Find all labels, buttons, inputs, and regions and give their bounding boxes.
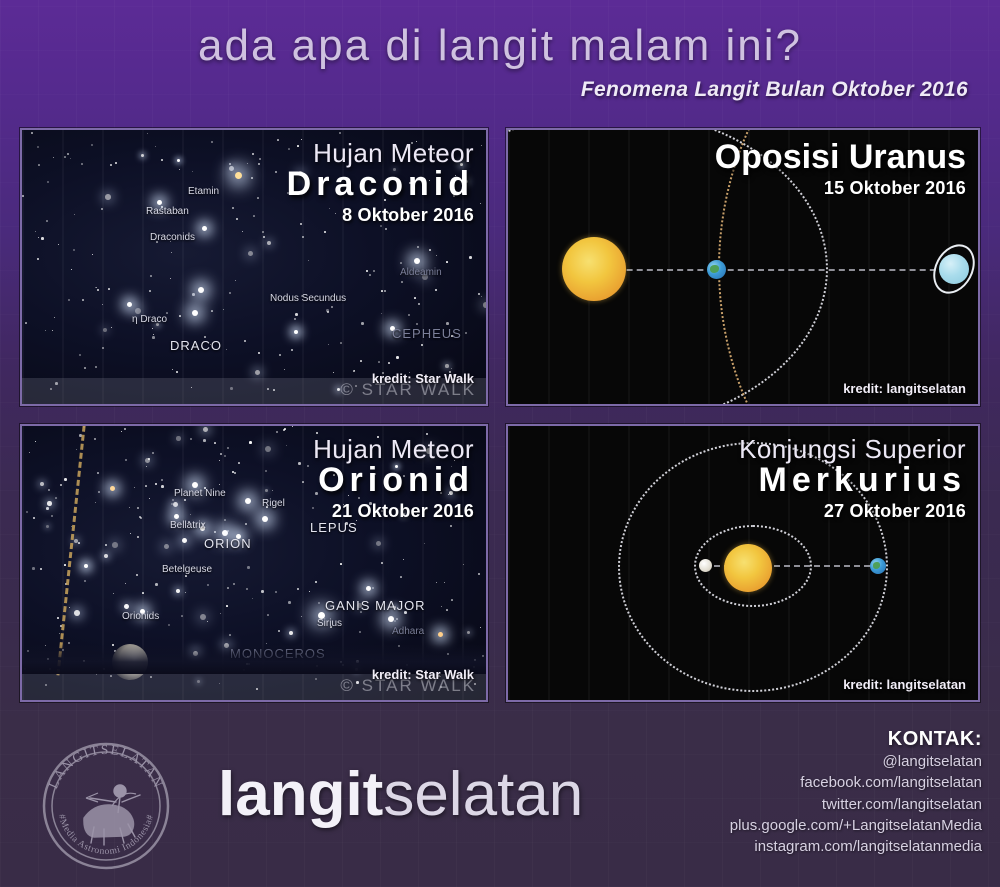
- star: [108, 288, 110, 290]
- star: [25, 322, 27, 324]
- star: [64, 156, 66, 158]
- star: [302, 236, 304, 238]
- star: [445, 364, 449, 368]
- contact-line[interactable]: instagram.com/langitselatanmedia: [730, 836, 982, 857]
- panel-date-label: 8 Oktober 2016: [287, 205, 474, 226]
- star: [258, 163, 260, 165]
- star: [226, 349, 227, 350]
- poster-footer: LANGITSELATAN #Media Astronomi Indonesia…: [0, 712, 1000, 887]
- star: [275, 591, 277, 593]
- panel-date-label: 27 Oktober 2016: [739, 501, 966, 522]
- poster-header: ada apa di langit malam ini? Fenomena La…: [0, 22, 1000, 102]
- panel-name-label: Merkurius: [739, 463, 966, 499]
- star: [102, 347, 104, 349]
- star: [224, 519, 226, 521]
- star: [229, 166, 234, 171]
- star: [378, 361, 380, 363]
- bright-star: [174, 514, 179, 519]
- bright-star: [202, 226, 207, 231]
- panel-draconid[interactable]: EtaminRastabanDraconidsη DracoDRACONodus…: [20, 128, 488, 406]
- star: [203, 439, 206, 442]
- star: [184, 499, 186, 501]
- star: [340, 563, 342, 565]
- star: [233, 583, 235, 585]
- star: [145, 485, 147, 487]
- panel-merkurius[interactable]: Konjungsi Superior Merkurius 27 Oktober …: [506, 424, 980, 702]
- star: [67, 153, 69, 155]
- star: [41, 237, 44, 240]
- star: [373, 270, 375, 272]
- star: [185, 575, 187, 577]
- star: [277, 139, 279, 141]
- star: [161, 479, 163, 481]
- star: [394, 620, 396, 622]
- star: [446, 322, 449, 325]
- panel-kind-label: Hujan Meteor: [313, 436, 474, 463]
- sky-label: Rigel: [262, 498, 285, 509]
- contact-heading: KONTAK:: [730, 728, 982, 751]
- star: [22, 195, 24, 197]
- svg-text:LANGITSELATAN: LANGITSELATAN: [45, 742, 166, 791]
- star: [388, 362, 390, 364]
- panel-kind-label: Konjungsi Superior: [739, 436, 966, 463]
- star: [73, 249, 75, 251]
- sky-label: DRACO: [170, 338, 222, 353]
- panel-date-label: 15 Oktober 2016: [715, 178, 966, 199]
- bright-star: [262, 516, 268, 522]
- bright-star: [245, 498, 251, 504]
- star: [150, 275, 152, 277]
- star: [265, 446, 271, 452]
- star: [40, 482, 44, 486]
- earth-icon: [870, 558, 886, 574]
- star: [446, 261, 448, 263]
- sky-label: Bellatrix: [170, 520, 206, 531]
- star: [74, 610, 80, 616]
- star: [245, 523, 247, 525]
- star: [142, 592, 144, 594]
- star: [179, 315, 181, 317]
- bright-star: [438, 632, 443, 637]
- star: [31, 132, 33, 134]
- star: [105, 194, 111, 200]
- star: [283, 429, 285, 431]
- star: [276, 431, 278, 433]
- star: [418, 303, 420, 305]
- sky-label: Draconids: [150, 232, 195, 243]
- star: [55, 497, 57, 499]
- star: [238, 462, 240, 464]
- panel-kind-label: Oposisi Uranus: [715, 140, 966, 176]
- star: [200, 614, 206, 620]
- bright-star: [366, 586, 371, 591]
- star: [104, 554, 108, 558]
- star: [401, 281, 403, 283]
- star: [137, 536, 139, 538]
- star: [135, 308, 141, 314]
- star: [267, 614, 269, 616]
- brand-wordmark: langitselatan: [218, 764, 583, 826]
- star: [82, 299, 84, 301]
- sky-label: Orionids: [122, 611, 159, 622]
- star: [57, 617, 59, 619]
- star: [298, 462, 301, 465]
- star: [111, 327, 112, 328]
- star: [81, 163, 83, 165]
- star: [340, 342, 342, 344]
- star: [302, 481, 304, 483]
- page-title: ada apa di langit malam ini?: [0, 22, 1000, 70]
- contact-block: KONTAK: @langitselatanfacebook.com/langi…: [730, 728, 982, 857]
- star: [257, 197, 259, 199]
- star: [47, 501, 52, 506]
- contact-line[interactable]: facebook.com/langitselatan: [730, 772, 982, 793]
- panel-date-label: 21 Oktober 2016: [313, 501, 474, 522]
- star: [64, 478, 67, 481]
- star: [483, 302, 488, 308]
- sky-label: GANIS MAJOR: [325, 598, 426, 613]
- star: [192, 171, 193, 172]
- contact-links: @langitselatanfacebook.com/langitselatan…: [730, 751, 982, 857]
- sky-label: LEPUS: [310, 520, 358, 535]
- star: [152, 336, 155, 339]
- bright-star: [198, 287, 204, 293]
- star: [153, 334, 154, 335]
- sky-label: Betelgeuse: [162, 564, 212, 575]
- sun-icon: [724, 544, 772, 592]
- star: [224, 455, 226, 457]
- star: [220, 453, 222, 455]
- mercury-icon: [699, 559, 712, 572]
- star: [253, 215, 255, 217]
- star: [295, 313, 298, 316]
- contact-line[interactable]: plus.google.com/+LangitselatanMedia: [730, 815, 982, 836]
- star: [137, 507, 139, 509]
- star: [292, 426, 293, 427]
- sky-label: η Draco: [132, 314, 167, 325]
- star: [315, 581, 317, 583]
- star: [110, 164, 112, 166]
- panel-name-label: Orionid: [313, 463, 474, 499]
- star: [396, 356, 399, 359]
- star: [232, 207, 234, 209]
- star: [32, 567, 35, 570]
- star: [78, 542, 80, 544]
- star: [263, 236, 265, 238]
- star: [318, 602, 320, 604]
- page-subtitle: Fenomena Langit Bulan Oktober 2016: [0, 78, 1000, 102]
- star: [249, 441, 252, 444]
- star: [381, 313, 382, 314]
- panel-kind-label: Hujan Meteor: [287, 140, 474, 167]
- star: [97, 289, 99, 291]
- star: [361, 322, 364, 325]
- star: [84, 367, 86, 369]
- star: [64, 564, 66, 566]
- bright-star: [388, 616, 394, 622]
- star: [190, 438, 192, 440]
- panel-heading-orionid: Hujan Meteor Orionid 21 Oktober 2016: [313, 436, 474, 522]
- star: [113, 593, 114, 594]
- star: [192, 293, 195, 296]
- star: [176, 436, 181, 441]
- contact-line[interactable]: @langitselatan: [730, 751, 982, 772]
- star: [155, 146, 156, 147]
- star: [275, 171, 277, 173]
- star: [112, 542, 118, 548]
- star: [229, 163, 231, 165]
- bright-star: [110, 486, 115, 491]
- star: [261, 590, 264, 593]
- star: [339, 132, 341, 134]
- star: [176, 371, 178, 373]
- panel-uranus[interactable]: Oposisi Uranus 15 Oktober 2016 kredit: l…: [506, 128, 980, 406]
- credit-merkurius: kredit: langitselatan: [843, 677, 966, 692]
- star: [360, 360, 362, 362]
- bright-star: [414, 258, 420, 264]
- star: [381, 562, 383, 564]
- star: [181, 615, 183, 617]
- bright-star: [235, 172, 242, 179]
- star: [369, 274, 371, 276]
- star: [33, 517, 35, 519]
- credit-uranus: kredit: langitselatan: [843, 381, 966, 396]
- star: [37, 258, 39, 260]
- star: [105, 544, 107, 546]
- sky-label: Planet Nine: [174, 488, 226, 499]
- star: [214, 442, 216, 444]
- star: [400, 262, 402, 264]
- star: [469, 256, 472, 259]
- star: [97, 472, 99, 474]
- panel-heading-uranus: Oposisi Uranus 15 Oktober 2016: [715, 140, 966, 199]
- star: [227, 447, 229, 449]
- contact-line[interactable]: twitter.com/langitselatan: [730, 794, 982, 815]
- credit-draconid: kredit: Star Walk: [372, 371, 474, 386]
- star: [124, 604, 129, 609]
- star: [416, 323, 418, 325]
- star: [429, 249, 431, 251]
- bright-star: [127, 302, 132, 307]
- star: [226, 605, 228, 607]
- star: [211, 310, 213, 312]
- panel-orionid[interactable]: Planet NineRigelBellatrixORIONLEPUSBetel…: [20, 424, 488, 702]
- langitselatan-logo: LANGITSELATAN #Media Astronomi Indonesia…: [36, 736, 176, 876]
- bright-star: [294, 330, 298, 334]
- star: [414, 297, 416, 299]
- sky-label: Rastaban: [146, 206, 189, 217]
- centaur-archer-icon: [84, 785, 140, 845]
- star: [227, 587, 229, 589]
- star: [214, 531, 216, 533]
- earth-icon: [707, 260, 726, 279]
- star: [450, 525, 452, 527]
- star: [307, 465, 309, 467]
- star: [279, 354, 281, 356]
- sky-label: Adhara: [392, 626, 424, 637]
- sky-label: Nodus Secundus: [270, 293, 346, 304]
- sky-label: CEPHEUS: [392, 326, 462, 341]
- star: [288, 601, 291, 604]
- bright-star: [157, 200, 162, 205]
- star: [148, 458, 150, 460]
- star: [98, 491, 100, 493]
- bright-star: [192, 310, 198, 316]
- star: [149, 290, 151, 292]
- star: [446, 609, 448, 611]
- star: [47, 181, 49, 183]
- star: [262, 231, 264, 233]
- star: [136, 574, 138, 576]
- star: [265, 489, 268, 492]
- sky-label: Sirius: [317, 618, 342, 629]
- star: [94, 438, 96, 440]
- brand-light: selatan: [383, 760, 583, 829]
- panel-heading-merkurius: Konjungsi Superior Merkurius 27 Oktober …: [739, 436, 966, 522]
- star: [139, 516, 141, 518]
- star: [451, 599, 453, 601]
- star: [58, 244, 59, 245]
- star: [38, 164, 40, 166]
- sun-icon: [562, 237, 626, 301]
- panel-name-label: Draconid: [287, 167, 474, 203]
- poster-root: ada apa di langit malam ini? Fenomena La…: [0, 0, 1000, 887]
- credit-orionid: kredit: Star Walk: [372, 667, 474, 682]
- star: [478, 573, 480, 575]
- star: [155, 583, 158, 586]
- star: [381, 290, 383, 292]
- sky-label: ORION: [204, 536, 252, 551]
- star: [46, 220, 48, 222]
- star: [229, 634, 231, 636]
- star: [161, 485, 164, 488]
- brand-bold: langit: [218, 760, 383, 829]
- star: [84, 580, 86, 582]
- star: [74, 539, 78, 543]
- star: [400, 576, 402, 578]
- star: [176, 589, 180, 593]
- sky-label: Etamin: [188, 186, 219, 197]
- panel-heading-draconid: Hujan Meteor Draconid 8 Oktober 2016: [287, 140, 474, 226]
- star: [172, 499, 174, 501]
- star: [46, 507, 49, 510]
- star: [247, 566, 250, 569]
- bright-star: [84, 564, 88, 568]
- star: [289, 631, 293, 635]
- sky-label: Aldeamin: [400, 267, 442, 278]
